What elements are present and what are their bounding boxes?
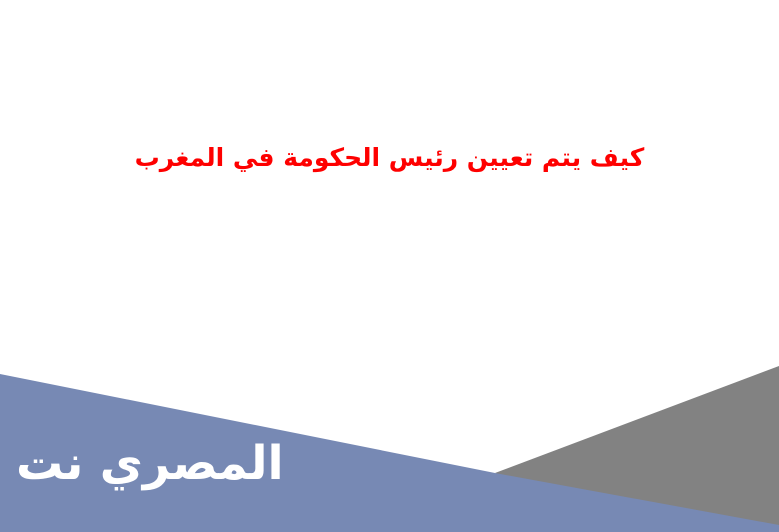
poster-canvas: كيف يتم تعيين رئيس الحكومة في المغرب الم… [0, 0, 779, 532]
site-logo-text: المصري نت [16, 436, 284, 491]
page-title-text: كيف يتم تعيين رئيس الحكومة في المغرب [135, 142, 645, 173]
site-logo-watermark: المصري نت [16, 440, 284, 487]
page-title: كيف يتم تعيين رئيس الحكومة في المغرب [0, 134, 779, 182]
